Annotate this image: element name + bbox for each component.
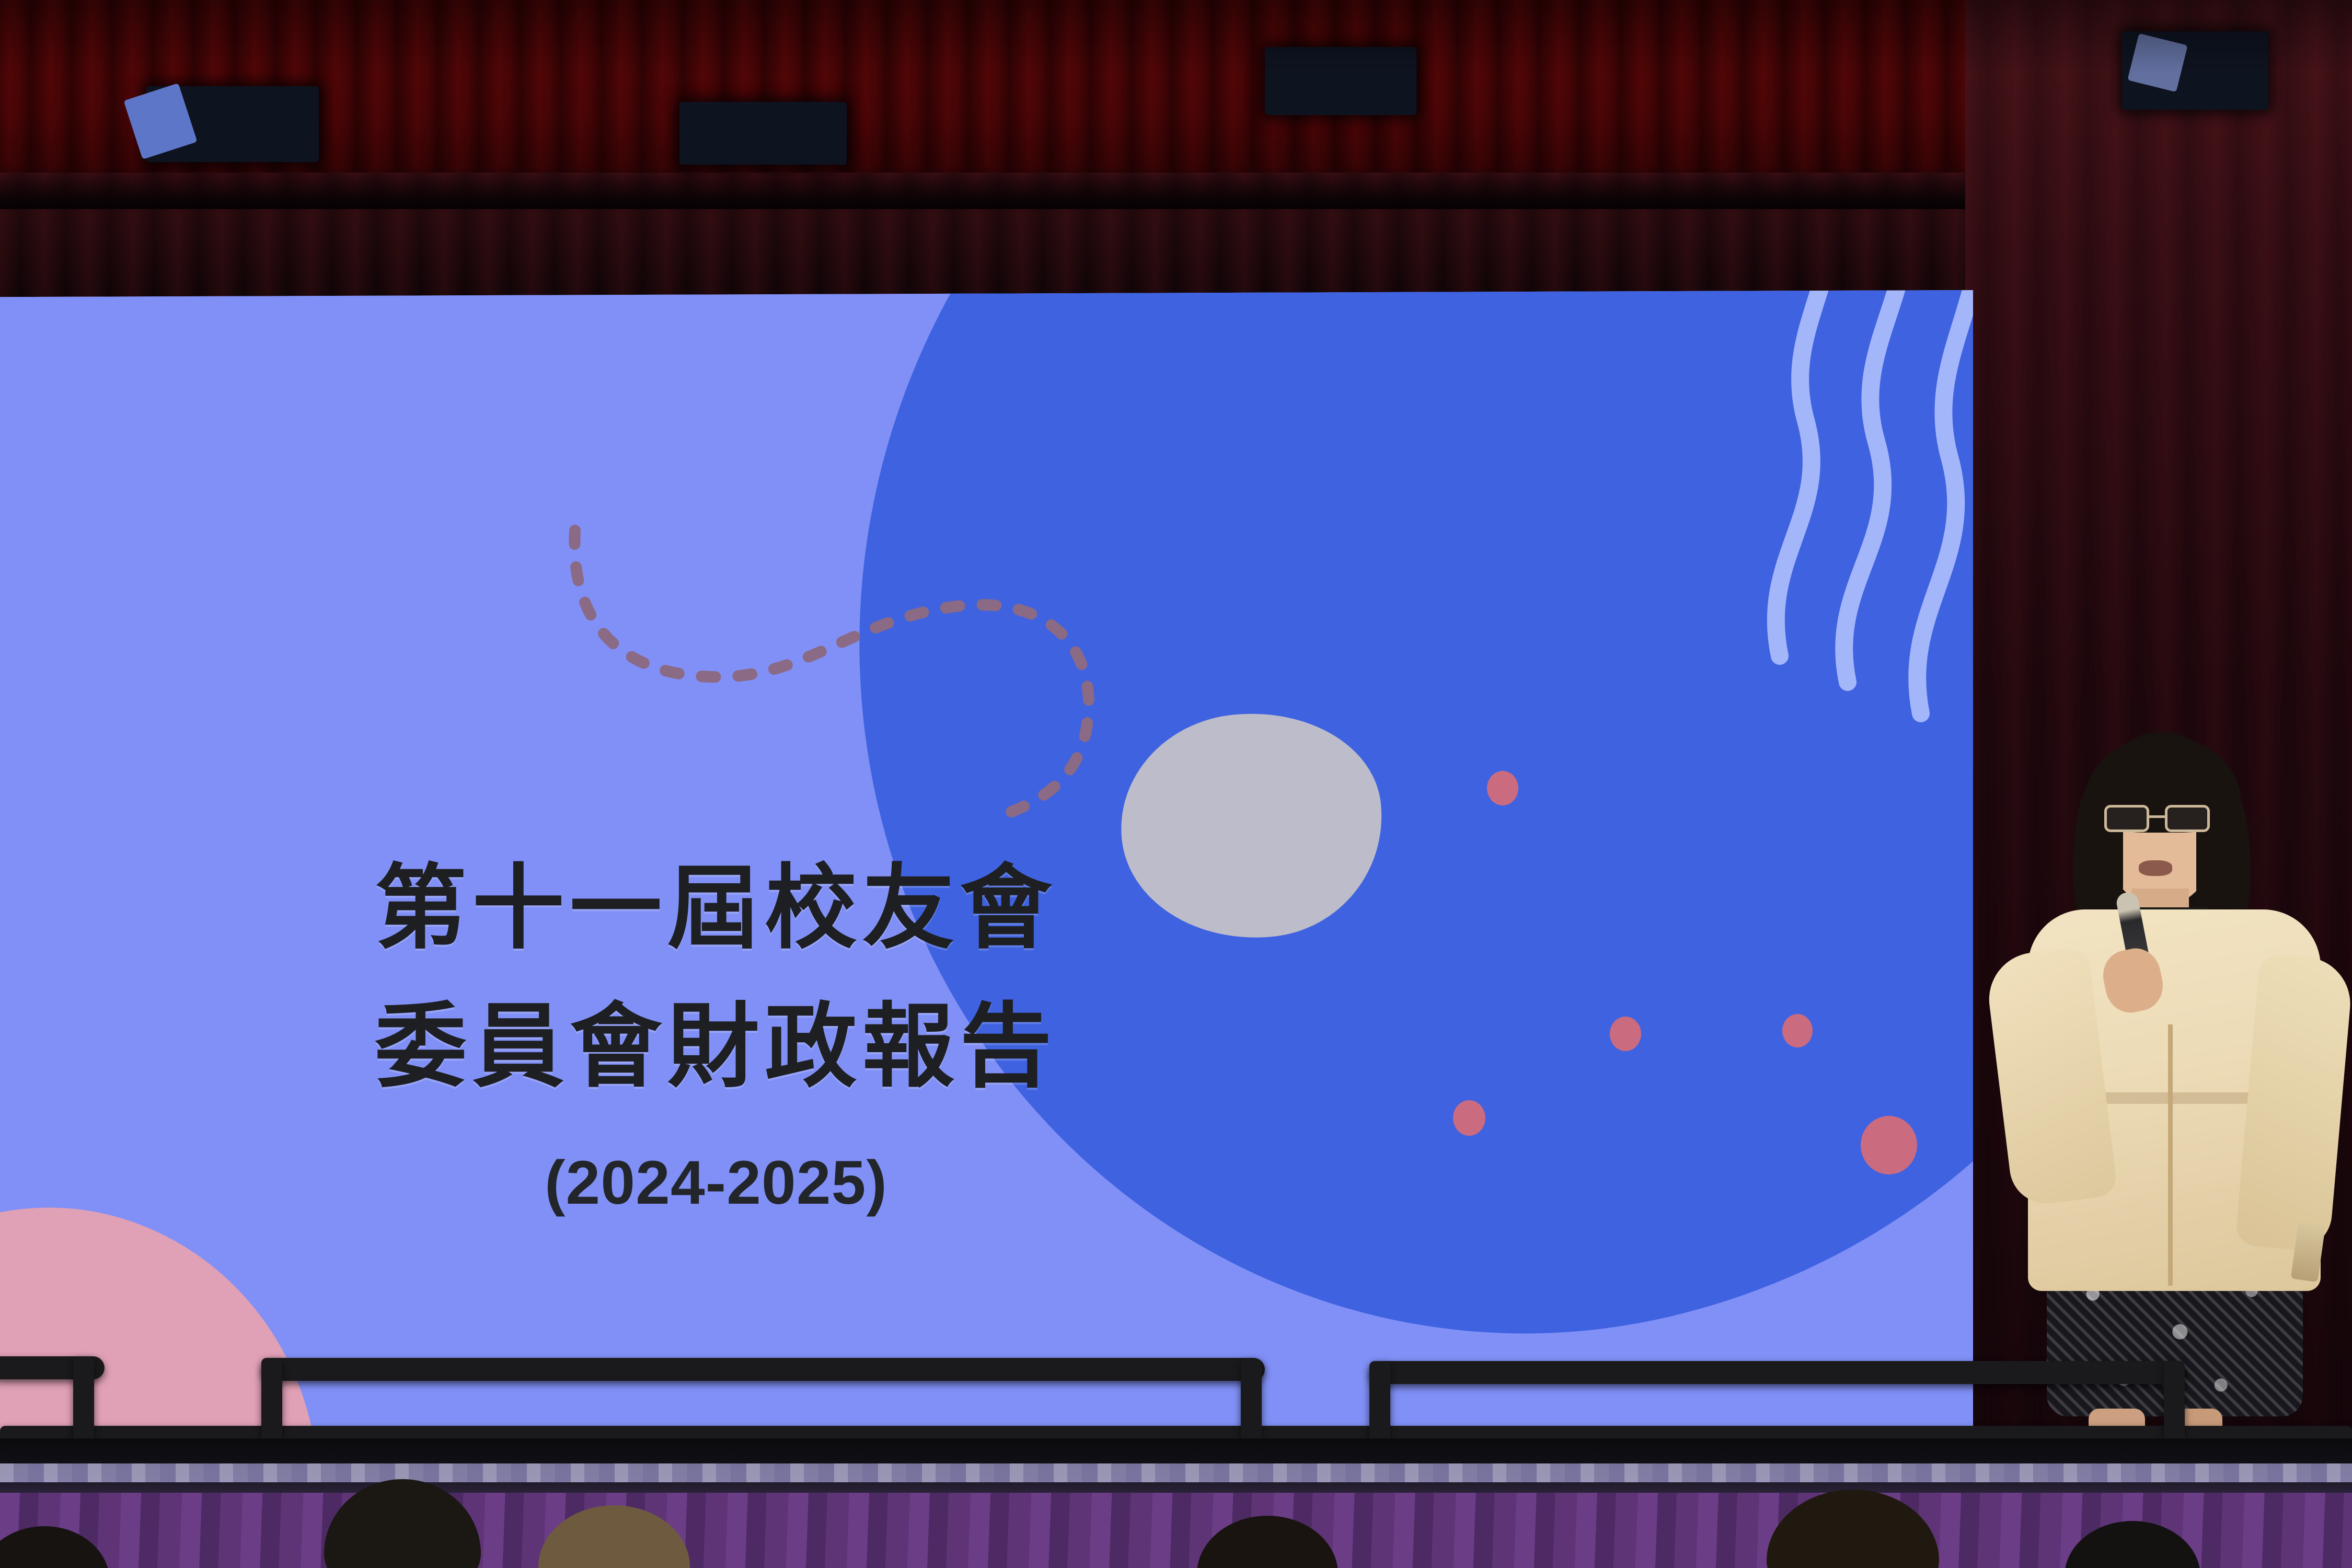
presenter-glasses-right-lens [2165,805,2210,832]
slide-title-line-1: 第十一屆校友會 [0,862,1437,954]
projection-screen: 第十一屆校友會 委員會財政報告 (2024-2025) 第十一屆校友會司庫 李翠… [0,290,1973,1448]
slide-period: (2024-2025) [0,1147,1437,1218]
presenter-jacket-zipper [2168,1024,2173,1286]
stage-light-fixture-left [146,86,319,162]
presenter-glasses-bridge [2149,815,2165,818]
presentation-slide: 第十一屆校友會 委員會財政報告 (2024-2025) 第十一屆校友會司庫 李翠… [0,290,1973,1448]
coral-dot-3 [1782,1014,1813,1047]
coral-dot-4 [1453,1100,1485,1136]
coral-dot-2 [1610,1017,1641,1051]
stage-apron-light-band [0,1463,2352,1482]
slide-text-block: 第十一屆校友會 委員會財政報告 (2024-2025) 第十一屆校友會司庫 李翠… [0,290,1437,1448]
top-vignette [0,0,2352,73]
stage-light-fixture-center [679,102,847,165]
slide-title-line-2: 委員會財政報告 [0,1001,1437,1093]
railing-top-cap-segment-3 [1369,1361,2185,1384]
coral-dot-1 [1487,771,1518,805]
screenshot-root: 第十一屆校友會 委員會財政報告 (2024-2025) 第十一屆校友會司庫 李翠… [0,0,2352,1568]
wavy-lines-decoration [1534,290,1973,928]
railing-top-cap-segment-2 [261,1358,1265,1381]
presenter-glasses-left-lens [2104,805,2149,832]
presenter-mouth [2139,860,2172,876]
coral-dot-5 [1861,1116,1917,1174]
